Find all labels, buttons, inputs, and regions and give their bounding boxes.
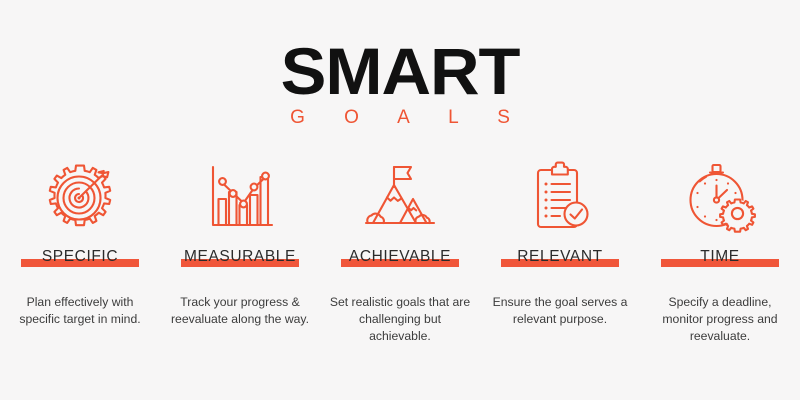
pillar-specific: SPECIFIC Plan effectively with specific …: [0, 158, 160, 328]
pillar-relevant: RELEVANT Ensure the goal serves a releva…: [480, 158, 640, 328]
clipboard-checklist-check-icon: [480, 158, 640, 236]
label-block-specific: SPECIFIC: [0, 248, 160, 274]
pillar-description: Ensure the goal serves a relevant purpos…: [489, 294, 631, 328]
pillar-description: Specify a deadline, monitor progress and…: [649, 294, 791, 345]
page-title: SMART: [0, 38, 800, 104]
mountain-flag-icon: [320, 158, 480, 236]
pillar-time: TIME Specify a deadline, monitor progres…: [640, 158, 800, 345]
pillar-label: TIME: [700, 248, 739, 265]
label-block-time: TIME: [640, 248, 800, 274]
label-block-measurable: MEASURABLE: [160, 248, 320, 274]
bar-chart-line-graph-icon: [160, 158, 320, 236]
pillar-label: ACHIEVABLE: [349, 248, 451, 265]
pillar-label: RELEVANT: [517, 248, 602, 265]
smart-pillars-row: SPECIFIC Plan effectively with specific …: [0, 158, 800, 345]
pillar-label: SPECIFIC: [42, 248, 118, 265]
pillar-achievable: ACHIEVABLE Set realistic goals that are …: [320, 158, 480, 345]
label-block-achievable: ACHIEVABLE: [320, 248, 480, 274]
header: SMART G O A L S: [0, 0, 800, 128]
page-subtitle: G O A L S: [0, 108, 800, 128]
pillar-measurable: MEASURABLE Track your progress & reevalu…: [160, 158, 320, 328]
pillar-description: Set realistic goals that are challenging…: [329, 294, 471, 345]
gear-target-arrow-icon: [0, 158, 160, 236]
stopwatch-gear-icon: [640, 158, 800, 236]
label-block-relevant: RELEVANT: [480, 248, 640, 274]
pillar-label: MEASURABLE: [184, 248, 296, 265]
pillar-description: Plan effectively with specific target in…: [9, 294, 151, 328]
pillar-description: Track your progress & reevaluate along t…: [169, 294, 311, 328]
